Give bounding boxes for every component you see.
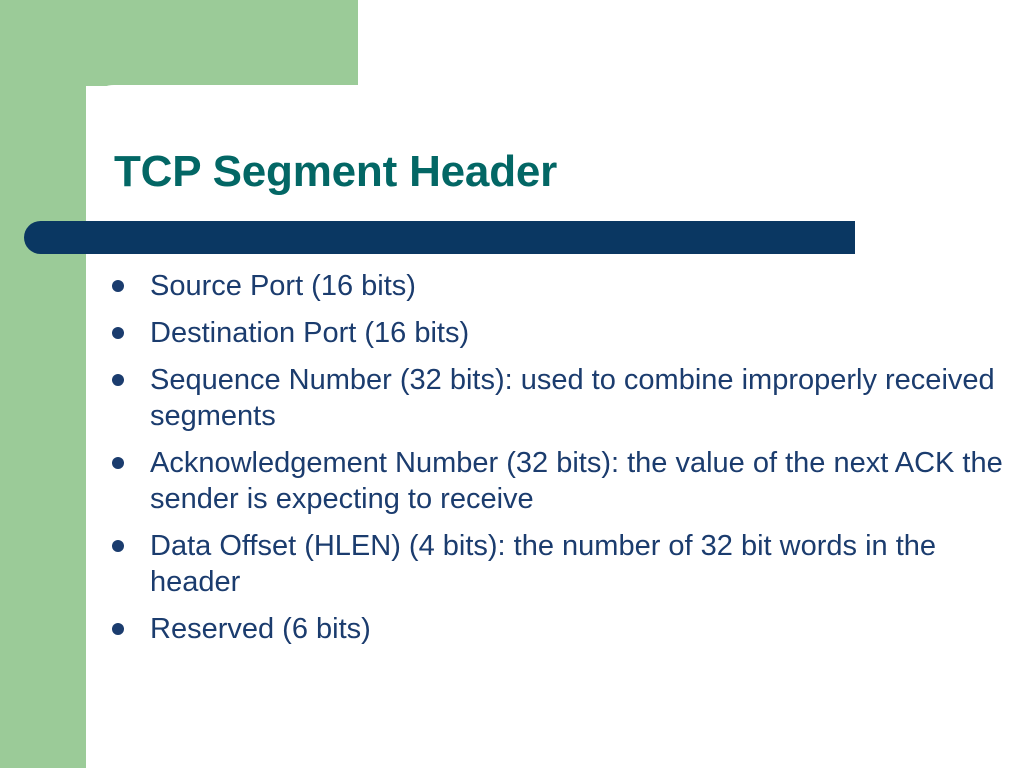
list-item: Acknowledgement Number (32 bits): the va… xyxy=(112,445,1017,517)
list-item-label: Reserved (6 bits) xyxy=(150,611,1017,647)
green-top-block-decoration xyxy=(0,0,358,86)
bullet-dot-icon xyxy=(112,540,124,552)
list-item: Sequence Number (32 bits): used to combi… xyxy=(112,362,1017,434)
bullet-dot-icon xyxy=(112,623,124,635)
list-item-label: Data Offset (HLEN) (4 bits): the number … xyxy=(150,528,1017,600)
navy-title-underline-bar xyxy=(24,221,855,254)
bullet-dot-icon xyxy=(112,280,124,292)
list-item-label: Sequence Number (32 bits): used to combi… xyxy=(150,362,1017,434)
bullet-dot-icon xyxy=(112,327,124,339)
page-title: TCP Segment Header xyxy=(114,146,974,198)
list-item: Destination Port (16 bits) xyxy=(112,315,1017,351)
list-item-label: Destination Port (16 bits) xyxy=(150,315,1017,351)
list-item: Reserved (6 bits) xyxy=(112,611,1017,647)
list-item: Data Offset (HLEN) (4 bits): the number … xyxy=(112,528,1017,600)
list-item-label: Acknowledgement Number (32 bits): the va… xyxy=(150,445,1017,517)
list-item: Source Port (16 bits) xyxy=(112,268,1017,304)
bullet-list: Source Port (16 bits) Destination Port (… xyxy=(112,268,1017,658)
bullet-dot-icon xyxy=(112,374,124,386)
list-item-label: Source Port (16 bits) xyxy=(150,268,1017,304)
bullet-dot-icon xyxy=(112,457,124,469)
green-left-column-decoration xyxy=(0,0,86,768)
slide-canvas: TCP Segment Header Source Port (16 bits)… xyxy=(0,0,1024,768)
